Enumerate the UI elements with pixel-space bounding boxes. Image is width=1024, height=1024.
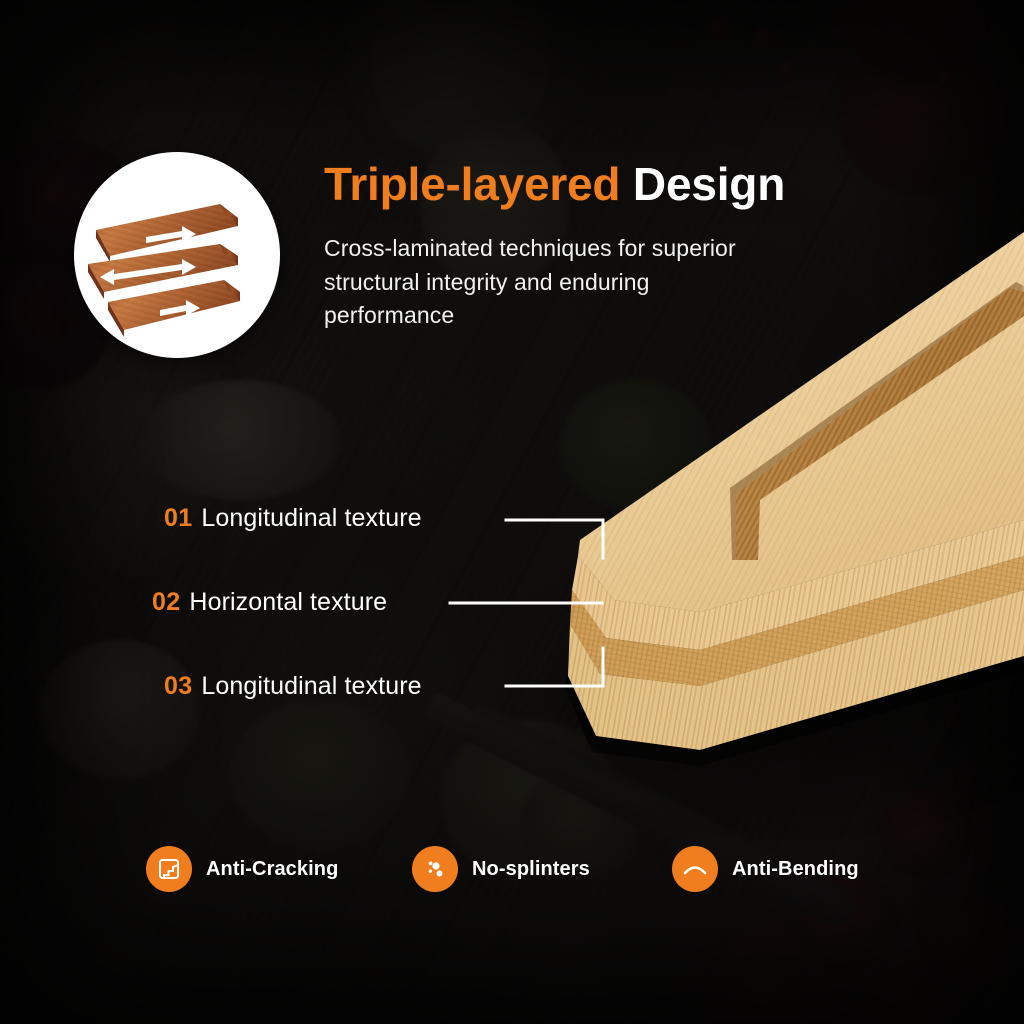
feature-anti-bending-label: Anti-Bending — [732, 858, 859, 881]
callout-02: 02Horizontal texture — [152, 588, 387, 617]
callout-02-number: 02 — [152, 588, 180, 616]
feature-no-splinters: No-splinters — [412, 846, 590, 892]
page-title-accent: Triple-layered — [324, 158, 620, 210]
infographic-canvas: Triple-layered Design Cross-laminated te… — [0, 0, 1024, 1024]
anti-cracking-badge — [146, 846, 192, 892]
splinter-dots-icon — [422, 856, 448, 882]
triple-layer-badge — [74, 152, 280, 358]
cracked-board-icon — [156, 856, 182, 882]
anti-bending-badge — [672, 846, 718, 892]
page-subtitle: Cross-laminated techniques for superior … — [324, 232, 764, 333]
feature-badge-row: Anti-Cracking No-splinters Anti-Bending — [0, 846, 1024, 906]
feature-anti-cracking: Anti-Cracking — [146, 846, 338, 892]
callout-03-number: 03 — [164, 672, 192, 700]
bending-arc-icon — [681, 855, 709, 883]
callout-01: 01Longitudinal texture — [164, 504, 422, 533]
page-title-plain: Design — [620, 158, 785, 210]
feature-no-splinters-label: No-splinters — [472, 858, 590, 881]
callout-02-label: Horizontal texture — [189, 588, 387, 616]
feature-anti-bending: Anti-Bending — [672, 846, 859, 892]
page-title: Triple-layered Design — [324, 159, 785, 210]
callout-01-number: 01 — [164, 504, 192, 532]
feature-anti-cracking-label: Anti-Cracking — [206, 858, 338, 881]
triple-layer-wood-illustration — [74, 152, 280, 358]
callout-01-label: Longitudinal texture — [201, 504, 421, 532]
no-splinters-badge — [412, 846, 458, 892]
callout-03-label: Longitudinal texture — [201, 672, 421, 700]
callout-03: 03Longitudinal texture — [164, 672, 422, 701]
